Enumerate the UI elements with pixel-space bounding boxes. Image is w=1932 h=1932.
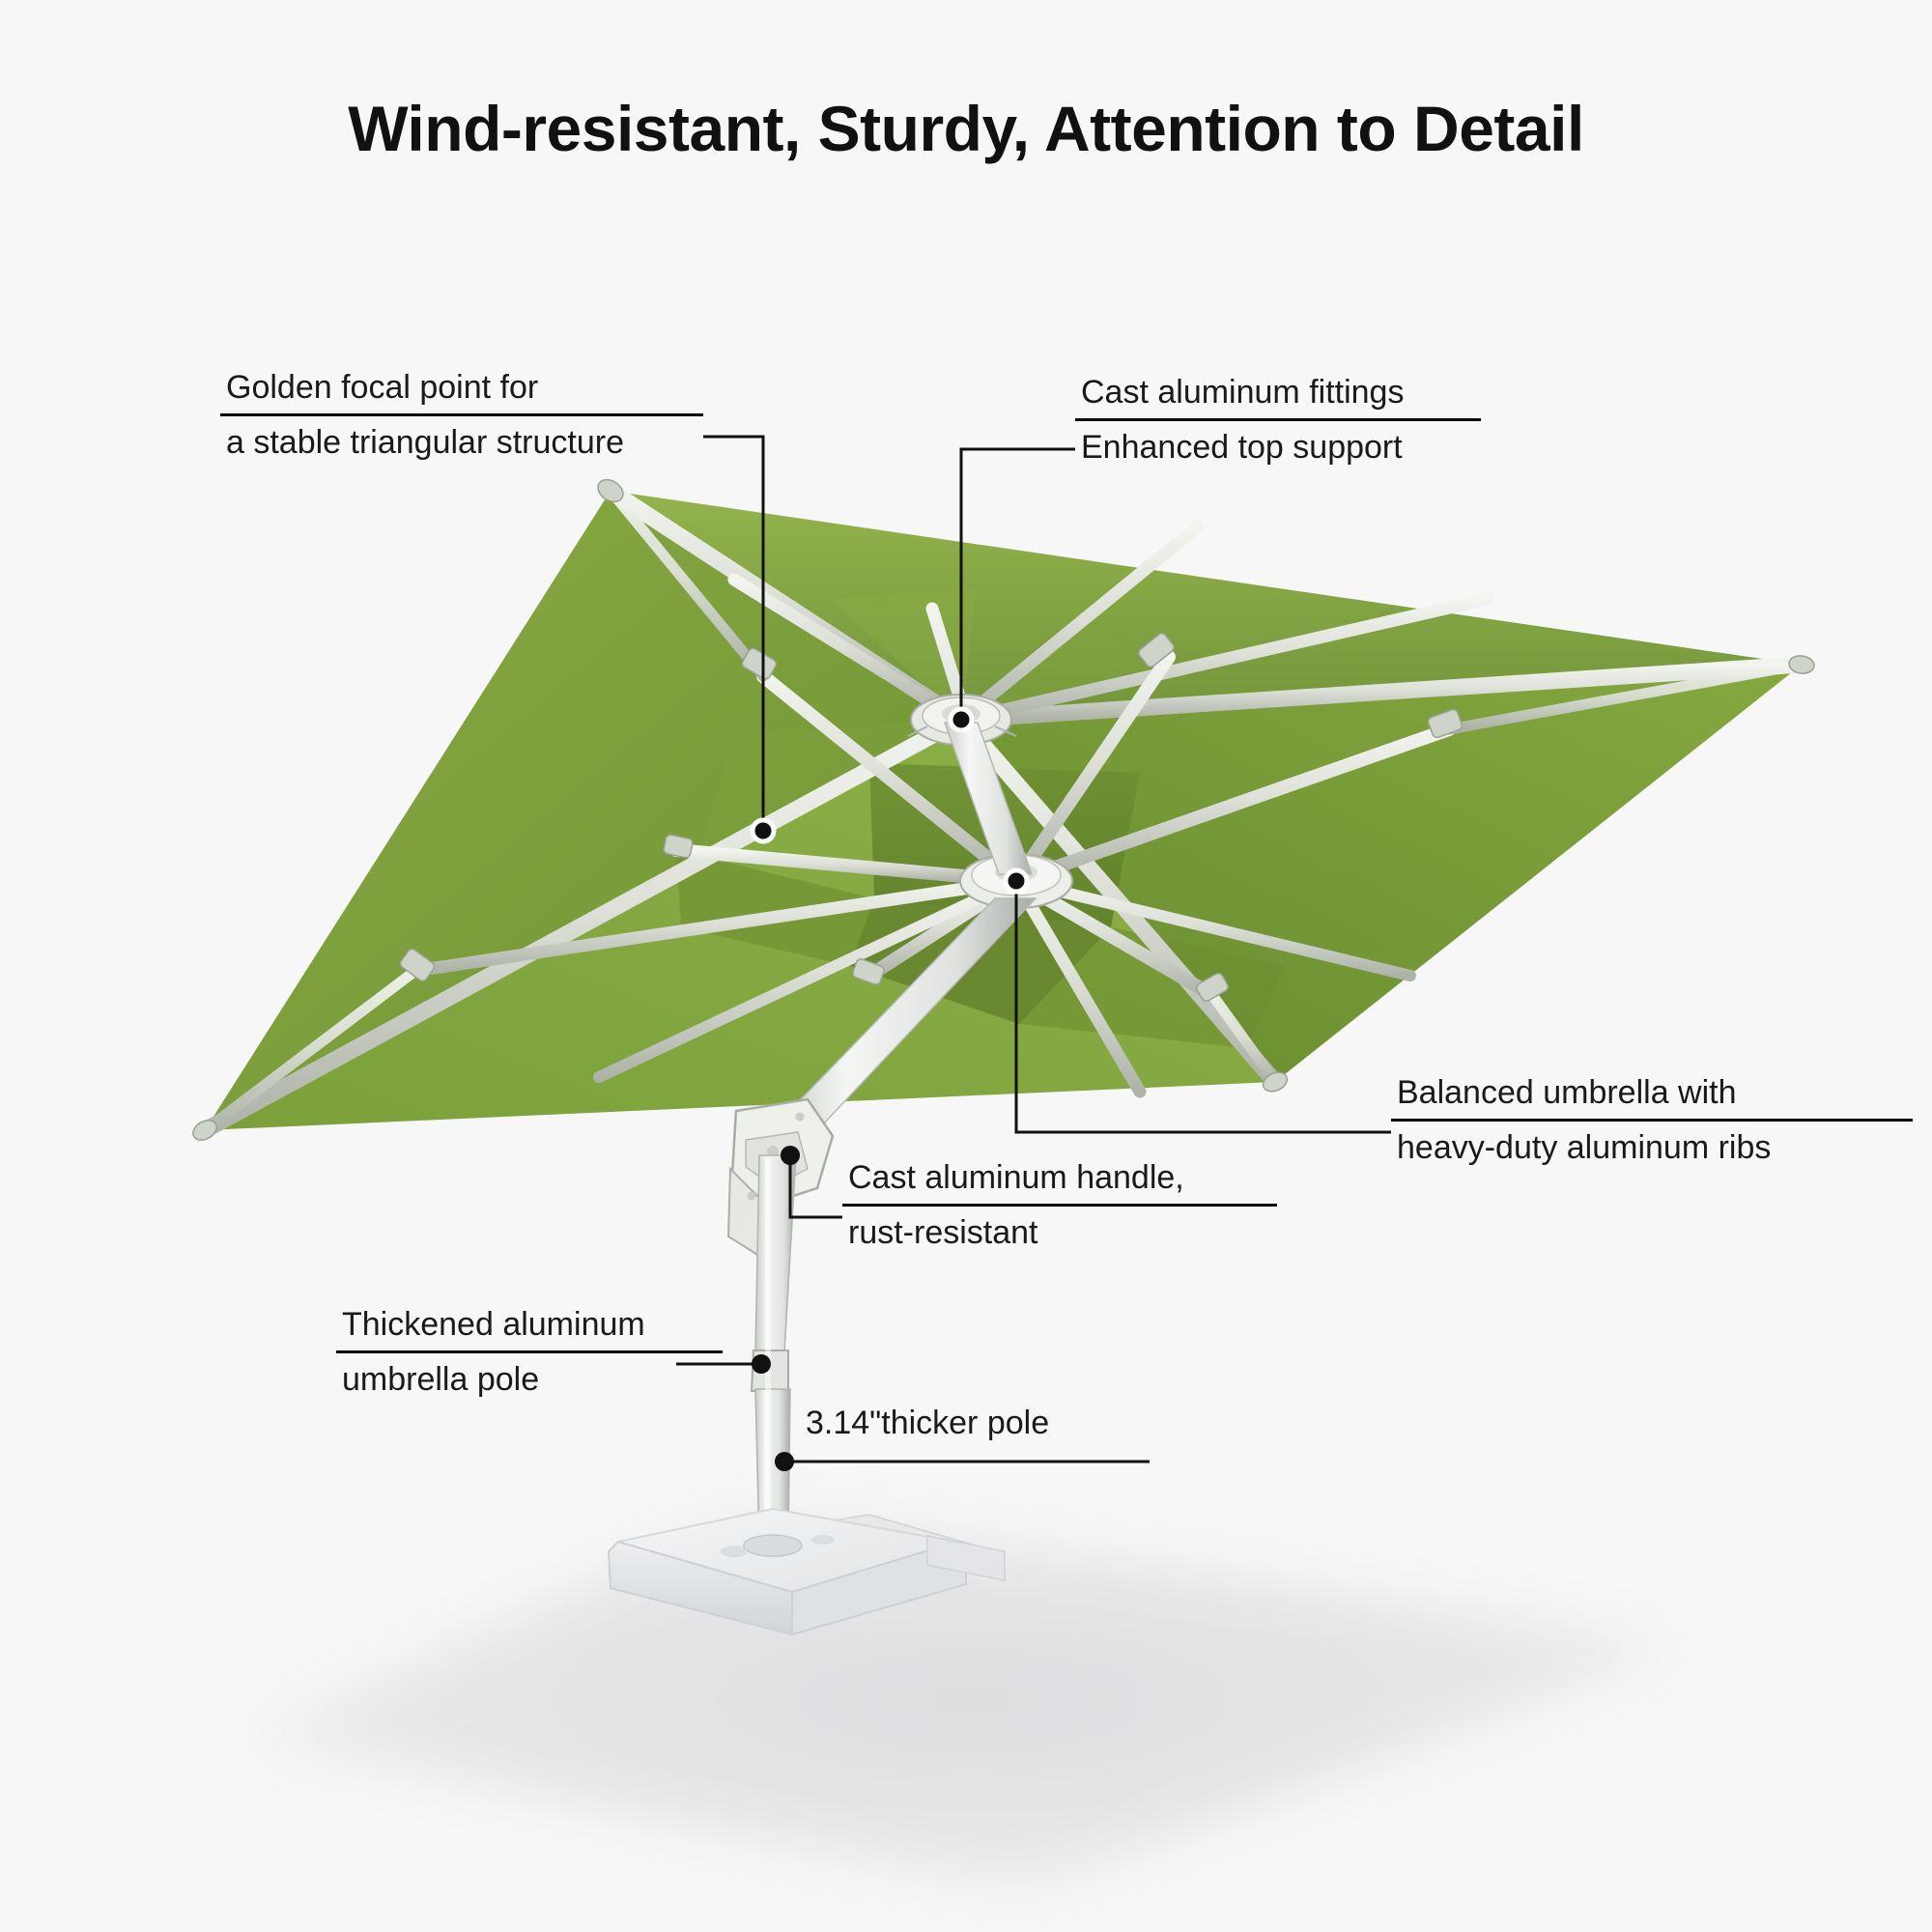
callout-thickened-aluminum-pole: Thickened aluminum umbrella pole [336, 1304, 723, 1401]
callout-line-1: Cast aluminum handle, [842, 1157, 1277, 1204]
callout-thicker-pole-spec: 3.14"thicker pole [800, 1403, 1157, 1451]
callout-line-1: Balanced umbrella with [1391, 1072, 1913, 1119]
callout-cast-aluminum-fittings: Cast aluminum fittings Enhanced top supp… [1075, 372, 1481, 469]
infographic-page: Wind-resistant, Sturdy, Attention to Det… [0, 0, 1932, 1932]
callout-line-1: Cast aluminum fittings [1075, 372, 1481, 418]
callout-line-2: umbrella pole [336, 1350, 723, 1402]
aluminum-pole [752, 1155, 796, 1546]
callout-line-1: Thickened aluminum [336, 1304, 723, 1350]
callout-line-2: heavy-duty aluminum ribs [1391, 1119, 1913, 1170]
callout-line-2: Enhanced top support [1075, 418, 1481, 469]
callout-golden-focal-point: Golden focal point for a stable triangul… [220, 367, 703, 464]
callout-line-1: 3.14"thicker pole [800, 1403, 1157, 1451]
callout-balanced-umbrella: Balanced umbrella with heavy-duty alumin… [1391, 1072, 1913, 1169]
callout-line-2: rust-resistant [842, 1204, 1277, 1255]
callout-cast-aluminum-handle: Cast aluminum handle, rust-resistant [842, 1157, 1277, 1254]
callout-line-2: a stable triangular structure [220, 413, 703, 465]
callout-line-1: Golden focal point for [220, 367, 703, 413]
product-illustration [0, 0, 1932, 1932]
